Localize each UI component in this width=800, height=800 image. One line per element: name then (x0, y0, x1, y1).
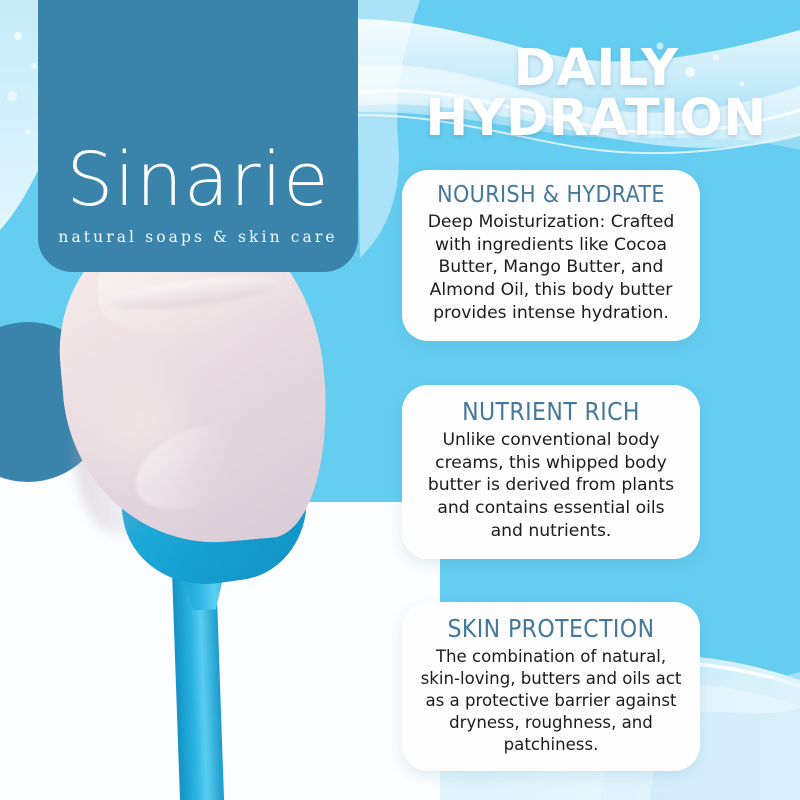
brand-tagline: natural soaps & skin care (58, 228, 337, 246)
benefit-card-title: NOURISH & HYDRATE (420, 182, 682, 208)
headline-line-1: DAILYHYDRATION (425, 39, 766, 148)
benefit-card-body: The combination of natural, skin-loving,… (420, 646, 682, 755)
benefit-card-title: SKIN PROTECTION (420, 614, 682, 643)
brand-logo-panel: Sinarie natural soaps & skin care (38, 0, 358, 272)
benefit-card: NUTRIENT RICH Unlike conventional body c… (402, 385, 700, 559)
benefit-card: NOURISH & HYDRATE Deep Moisturization: C… (402, 170, 700, 341)
page-title: DAILYHYDRATION (400, 44, 792, 145)
brand-name: Sinarie (66, 145, 329, 216)
benefit-card: SKIN PROTECTION The combination of natur… (402, 602, 700, 771)
promotional-poster: Sinarie natural soaps & skin care DAILYH… (0, 0, 800, 800)
benefit-card-title: NUTRIENT RICH (420, 397, 682, 426)
benefit-card-body: Unlike conventional body creams, this wh… (420, 429, 682, 543)
benefit-card-body: Deep Moisturization: Crafted with ingred… (420, 211, 682, 325)
